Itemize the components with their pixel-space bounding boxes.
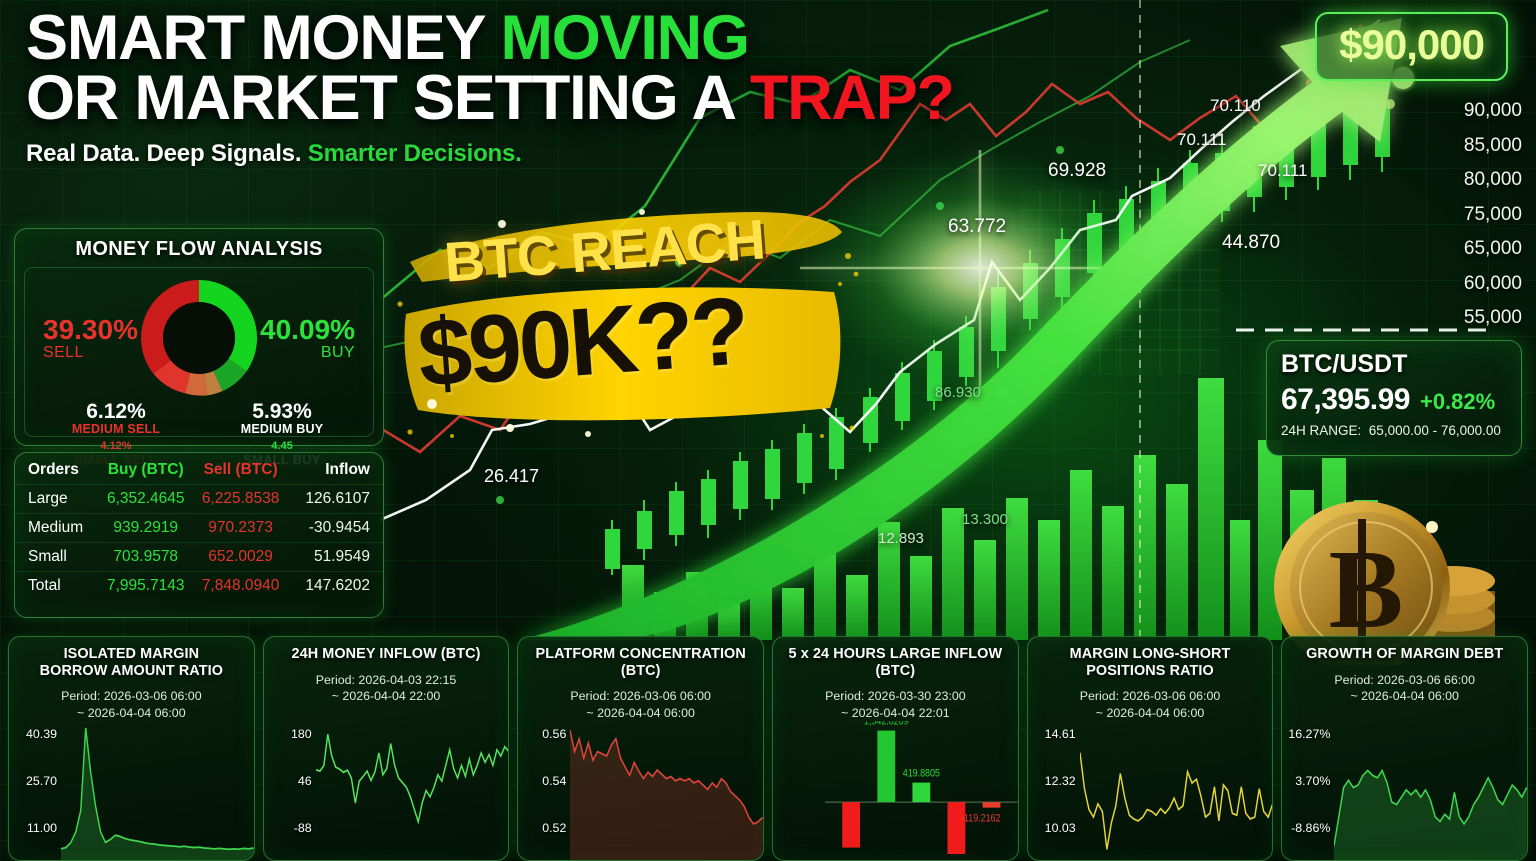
metric-panel-title: ISOLATED MARGINBORROW AMOUNT RATIO [15,646,248,679]
orders-cell-0: Medium [15,514,98,543]
table-row: Medium939.2919970.2373-30.9454 [15,514,383,543]
orders-cell-3: -30.9454 [288,514,383,543]
metric-panel-svg [61,721,254,860]
medium-sell-label: MEDIUM SELL [41,422,191,436]
orders-cell-3: 147.6202 [288,572,383,601]
money-flow-donut [133,272,265,409]
metric-panel-ticks [773,721,825,860]
orders-cell-3: 126.6107 [288,485,383,514]
metric-tick-1: 3.70% [1295,774,1330,788]
small-sell-percent: 4.12% [41,441,191,452]
metric-panel-1[interactable]: 24H MONEY INFLOW (BTC)Period: 2026-04-03… [263,636,510,861]
buy-percent: 40.09% [260,316,355,344]
orders-cell-1: 7,995.7143 [98,572,193,601]
table-row: Small703.9578652.002951.9549 [15,543,383,572]
medium-buy-percent: 5.93% [207,401,357,422]
money-flow-body: 39.30% SELL 40.09% BUY 6.12% MEDIUM SELL… [24,267,374,437]
metric-panel-ticks: 18046-88 [264,721,316,860]
metric-panel-period: Period: 2026-03-06 66:00~ 2026-04-04 06:… [1288,672,1521,704]
medium-buy-label: MEDIUM BUY [207,422,357,436]
metric-panel-0[interactable]: ISOLATED MARGINBORROW AMOUNT RATIOPeriod… [8,636,255,861]
orders-header-0: Orders [15,456,98,485]
money-flow-title: MONEY FLOW ANALYSIS [15,238,383,261]
orders-cell-2: 970.2373 [193,514,288,543]
metric-tick-2: -8.86% [1291,821,1330,835]
metric-panel-period: Period: 2026-03-06 06:00~ 2026-04-04 06:… [15,688,248,720]
orders-header-3: Inflow [288,456,383,485]
metric-area [1334,771,1527,860]
metric-panel-ticks: 16.27%3.70%-8.86% [1282,721,1334,860]
orders-header-1: Buy (BTC) [98,456,193,485]
metric-panel-title: PLATFORM CONCENTRATION (BTC) [524,646,757,679]
inflow-bar-label-2: 419.8805 [903,768,941,780]
inflow-bar-3 [947,802,965,854]
metric-tick-0: 40.39 [26,727,57,741]
inflow-bar-label-4: -119.2162 [961,813,1001,825]
metric-line [316,734,509,822]
inflow-bar-label-1: 1,542.8269 [864,721,909,728]
metric-panel-title: MARGIN LONG-SHORTPOSITIONS RATIO [1034,646,1267,679]
metric-panel-period: Period: 2026-04-03 22:15~ 2026-04-04 22:… [270,672,503,704]
price-axis-tick-1: 85,000 [1464,135,1522,170]
orders-cell-1: 703.9578 [98,543,193,572]
metric-panel-svg: 1,542.8269419.8805-119.2162 [825,721,1018,860]
btc-reach-burst: BTC REACH $90K?? [392,196,862,454]
metric-tick-2: 11.00 [27,821,57,835]
buy-stat-block: 40.09% BUY [260,316,355,362]
price-axis-tick-3: 75,000 [1464,204,1522,239]
metric-panel-svg [1080,721,1273,860]
metric-panel-plot: 0.560.540.52 [518,721,763,860]
orders-cell-2: 6,225.8538 [193,485,288,514]
range-value: 65,000.00 - 76,000.00 [1369,423,1501,438]
metric-panel-5[interactable]: GROWTH OF MARGIN DEBTPeriod: 2026-03-06 … [1281,636,1528,861]
sell-label: SELL [43,344,138,362]
price-card-range: 24H RANGE: 65,000.00 - 76,000.00 [1281,423,1521,438]
metric-panel-title: GROWTH OF MARGIN DEBT [1288,646,1521,663]
table-row: Total7,995.71437,848.0940147.6202 [15,572,383,601]
metric-tick-1: 0.54 [542,774,566,788]
metric-tick-2: -88 [294,821,312,835]
orders-table-header: OrdersBuy (BTC)Sell (BTC)Inflow [15,456,383,485]
inflow-bar-0 [842,802,860,847]
orders-cell-3: 51.9549 [288,543,383,572]
inflow-bar-4 [983,802,1001,808]
metric-panel-period: Period: 2026-03-06 06:00~ 2026-04-04 06:… [524,688,757,720]
orders-cell-1: 6,352.4645 [98,485,193,514]
headline-line-2: OR MARKET SETTING A TRAP? [26,68,1026,128]
target-price-badge: $90,000 [1315,12,1508,81]
price-axis-tick-4: 65,000 [1464,238,1522,273]
orders-cell-1: 939.2919 [98,514,193,543]
metric-panel-plot: 14.6112.3210.03 [1028,721,1273,860]
metric-panel-ticks: 14.6112.3210.03 [1028,721,1080,860]
metric-panel-svg [1334,721,1527,860]
subheadline-green: Smarter Decisions. [308,140,522,167]
price-axis-tick-0: 90,000 [1464,100,1522,135]
metric-panel-ticks: 0.560.540.52 [518,721,570,860]
metric-panel-title: 24H MONEY INFLOW (BTC) [270,646,503,663]
metric-panel-plot: 18046-88 [264,721,509,860]
metric-panel-ticks: 40.3925.7011.00 [9,721,61,860]
metric-tick-2: 0.52 [542,821,566,835]
btc-usdt-price-card: BTC/USDT 67,395.99 +0.82% 24H RANGE: 65,… [1266,340,1522,456]
price-card-change: +0.82% [1420,389,1495,415]
metric-tick-0: 16.27% [1288,727,1330,741]
orders-cell-2: 652.0029 [193,543,288,572]
orders-cell-0: Small [15,543,98,572]
subheadline-white: Real Data. Deep Signals. [26,140,308,167]
medium-sell-percent: 6.12% [41,401,191,422]
metric-panel-title: 5 x 24 HOURS LARGE INFLOW (BTC) [779,646,1012,679]
metric-tick-1: 12.32 [1045,774,1076,788]
buy-label: BUY [260,344,355,362]
orders-header-2: Sell (BTC) [193,456,288,485]
metric-panel-period: Period: 2026-03-06 06:00~ 2026-04-04 06:… [1034,688,1267,720]
metric-panel-3[interactable]: 5 x 24 HOURS LARGE INFLOW (BTC)Period: 2… [772,636,1019,861]
orders-table: OrdersBuy (BTC)Sell (BTC)Inflow Large6,3… [15,456,383,600]
headline-line-1: SMART MONEY MOVING [26,8,1026,68]
metric-tick-0: 0.56 [542,727,566,741]
metric-tick-0: 14.61 [1045,727,1076,741]
price-card-price: 67,395.99 [1281,383,1410,417]
price-card-pair: BTC/USDT [1281,350,1521,379]
orders-table-card: OrdersBuy (BTC)Sell (BTC)Inflow Large6,3… [14,452,384,618]
inflow-bar-2 [912,783,930,802]
price-axis-ticks: 90,00085,00080,00075,00065,00060,00055,0… [1464,100,1522,342]
metric-panel-period: Period: 2026-03-30 23:00~ 2026-04-04 22:… [779,688,1012,720]
metric-panel-svg [316,721,509,860]
range-label: 24H RANGE: [1281,423,1361,438]
price-axis-tick-2: 80,000 [1464,169,1522,204]
table-row: Large6,352.46456,225.8538126.6107 [15,485,383,514]
headline-block: SMART MONEY MOVING OR MARKET SETTING A T… [26,8,1026,168]
orders-cell-0: Total [15,572,98,601]
price-axis-tick-6: 55,000 [1464,307,1522,342]
money-flow-analysis-card: MONEY FLOW ANALYSIS 39.30% SELL 4 [14,228,384,446]
small-buy-percent: 4.45 [207,441,357,452]
sell-percent: 39.30% [43,316,138,344]
orders-cell-0: Large [15,485,98,514]
metric-panel-plot: 1,542.8269419.8805-119.2162 [773,721,1018,860]
headline-line2-red: TRAP? [750,63,954,133]
price-card-row: 67,395.99 +0.82% [1281,383,1521,417]
metric-line [1080,753,1273,850]
price-axis-tick-5: 60,000 [1464,273,1522,308]
metric-tick-1: 25.70 [26,774,57,788]
metric-panel-svg [570,721,763,860]
orders-table-body: Large6,352.46456,225.8538126.6107Medium9… [15,485,383,601]
metric-panel-4[interactable]: MARGIN LONG-SHORTPOSITIONS RATIOPeriod: … [1027,636,1274,861]
metric-tick-1: 46 [298,774,312,788]
sell-stat-block: 39.30% SELL [43,316,138,362]
metric-tick-0: 180 [291,727,312,741]
metric-panel-2[interactable]: PLATFORM CONCENTRATION (BTC)Period: 2026… [517,636,764,861]
headline-line2-white: OR MARKET SETTING A [26,63,750,133]
inflow-bar-1 [877,731,895,802]
subheadline: Real Data. Deep Signals. Smarter Decisio… [26,140,1026,168]
metric-panel-plot: 40.3925.7011.00 [9,721,254,860]
metric-panel-plot: 16.27%3.70%-8.86% [1282,721,1527,860]
metric-area [61,728,254,860]
orders-cell-2: 7,848.0940 [193,572,288,601]
bottom-metric-panels: ISOLATED MARGINBORROW AMOUNT RATIOPeriod… [0,636,1536,861]
metric-tick-2: 10.03 [1045,821,1076,835]
